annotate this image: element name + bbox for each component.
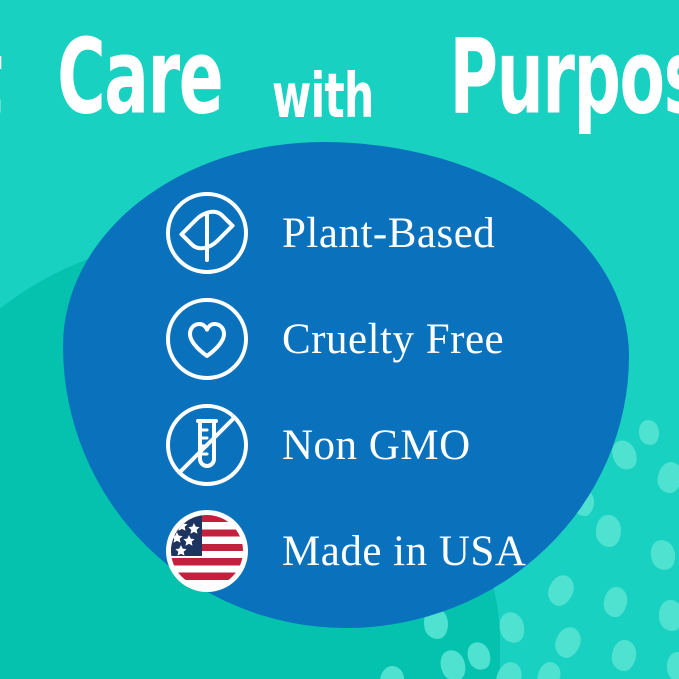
feature-list: Plant-Based Cruelty Free bbox=[166, 180, 626, 604]
feature-item-non-gmo: Non GMO bbox=[166, 392, 626, 498]
feature-label-made-in-usa: Made in USA bbox=[282, 530, 526, 573]
leaf-icon bbox=[166, 192, 248, 274]
promo-banner: Pet Care with Purpose ® Plant-Based bbox=[0, 0, 679, 679]
usa-flag-icon-inner bbox=[171, 515, 243, 587]
usa-flag-icon-badge bbox=[166, 510, 248, 592]
feature-label-non-gmo: Non GMO bbox=[282, 424, 471, 467]
no-gmo-icon bbox=[166, 404, 248, 486]
feature-item-plant-based: Plant-Based bbox=[166, 180, 626, 286]
feature-item-cruelty-free: Cruelty Free bbox=[166, 286, 626, 392]
headline-word-pet: Pet bbox=[0, 28, 1, 126]
feature-label-cruelty-free: Cruelty Free bbox=[282, 318, 504, 361]
no-gmo-icon-glyph bbox=[166, 404, 248, 486]
heart-icon bbox=[166, 298, 248, 380]
headline-word-purpose: Purpose bbox=[449, 28, 679, 126]
usa-flag-icon bbox=[166, 510, 248, 592]
usa-flag-icon-stars bbox=[171, 515, 202, 556]
headline-word-with: with bbox=[271, 67, 376, 126]
headline-word-care: Care bbox=[57, 28, 222, 126]
feature-item-made-in-usa: Made in USA bbox=[166, 498, 626, 604]
feature-label-plant-based: Plant-Based bbox=[282, 212, 495, 255]
heart-icon-glyph bbox=[187, 320, 227, 360]
page-title: Pet Care with Purpose ® bbox=[0, 10, 679, 126]
